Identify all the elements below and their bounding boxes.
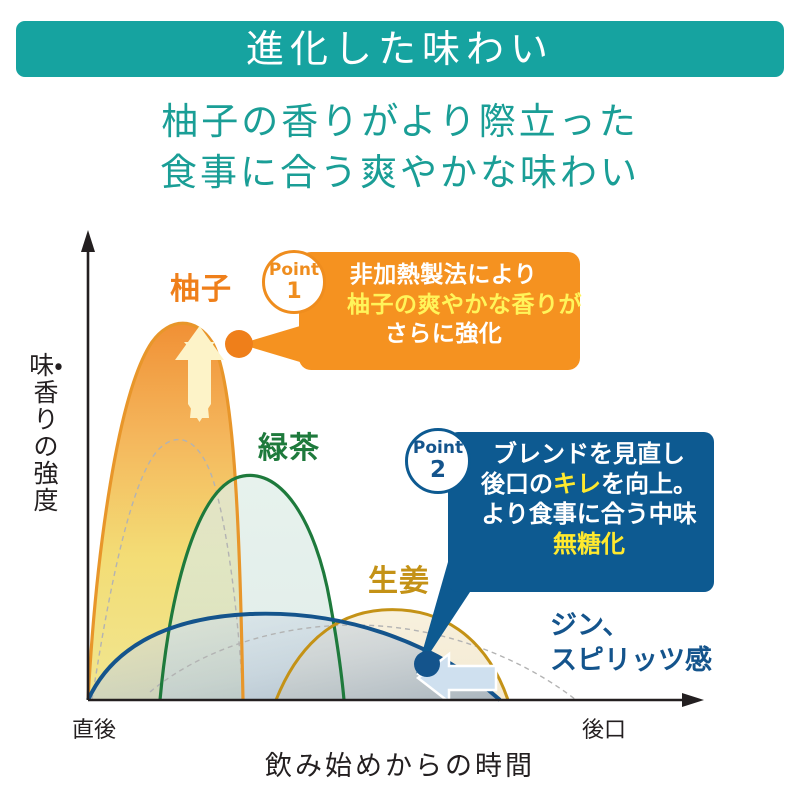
callout2-line-4: 無糖化 (472, 529, 706, 559)
callout-point-2: ブレンドを見直し 後口のキレを向上。 より食事に合う中味 無糖化 (448, 432, 714, 592)
point-2-badge-word: Point (413, 440, 463, 457)
point-1-badge-number: 1 (286, 281, 301, 303)
x-axis-label: 飲み始めからの時間 (0, 744, 800, 783)
point1-marker (225, 330, 253, 358)
callout2-line-2-post: を向上。 (601, 470, 697, 498)
header-banner: 進化した味わい (16, 21, 784, 77)
point-2-badge: Point 2 (405, 428, 471, 494)
callout-point-1: 非加熱製法により 柚子の爽やかな香りが さらに強化 (299, 252, 580, 370)
callout2-line-2: 後口のキレを向上。 (472, 469, 706, 499)
callout1-line-2: 柚子の爽やかな香りが (347, 291, 570, 321)
callout2-line-3: より食事に合う中味 (472, 499, 706, 529)
series-label-green-tea: 緑茶 (258, 423, 320, 467)
gin-spirits-note: ジン、 スピリッツ感 (550, 608, 712, 678)
subtitle-block: 柚子の香りがより際立った 食事に合う爽やかな味わい (0, 96, 800, 198)
point-1-badge-word: Point (269, 262, 319, 279)
y-axis-arrowhead-icon (81, 230, 95, 252)
series-label-yuzu: 柚子 (170, 264, 232, 308)
infographic-root: 進化した味わい 柚子の香りがより際立った 食事に合う爽やかな味わい (0, 0, 800, 800)
yuzu-up-arrow-shaft-icon (188, 356, 211, 404)
callout1-line-3: さらに強化 (347, 320, 570, 350)
gin-note-line-1: ジン、 (550, 608, 712, 643)
subtitle-line-2: 食事に合う爽やかな味わい (0, 147, 800, 198)
series-label-ginger: 生姜 (368, 556, 430, 600)
y-axis-label: 味・香りの強度 (24, 352, 68, 514)
callout2-line-2-pre: 後口の (481, 470, 553, 498)
point2-marker (414, 651, 440, 677)
x-tick-label-end: 後口 (582, 712, 626, 744)
x-tick-label-start: 直後 (72, 712, 116, 744)
callout2-line-1: ブレンドを見直し (472, 439, 706, 469)
callout2-line-2-highlight: キレ (553, 470, 601, 498)
point-1-badge: Point 1 (262, 250, 326, 314)
gin-note-line-2: スピリッツ感 (550, 643, 712, 678)
callout1-line-1: 非加熱製法により (347, 261, 570, 291)
banner-title: 進化した味わい (246, 30, 554, 68)
subtitle-line-1: 柚子の香りがより際立った (0, 96, 800, 147)
x-axis-arrowhead-icon (682, 693, 704, 707)
point-2-badge-number: 2 (430, 459, 446, 482)
